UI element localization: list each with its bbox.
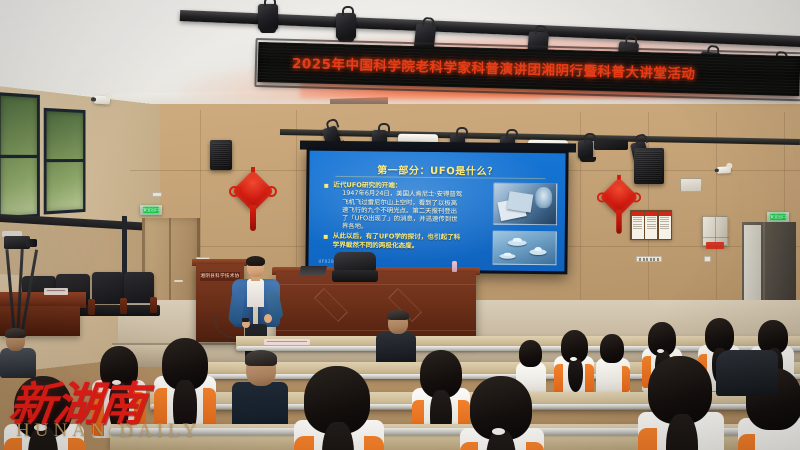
- chair-armrest: [120, 298, 127, 314]
- window-pane: [44, 108, 86, 215]
- slide-bullet: 近代UFO研究的开端： 1947年6月24日，美国人肯尼士·安得普驾飞机飞过雷尼…: [323, 181, 464, 232]
- soffit-post: [122, 216, 127, 276]
- witness-face: [535, 187, 552, 208]
- window-pane: [0, 92, 40, 220]
- left-windows: [4, 86, 84, 228]
- slide-bullet-text: 1947年6月24日，美国人肯尼士·安得普驾飞机飞过雷尼尔山上空时，看到了以极高…: [333, 189, 463, 231]
- presenter-hand-right: [264, 314, 272, 323]
- stage-light: [258, 4, 278, 30]
- wall-poster: [645, 212, 657, 239]
- slide-body: 近代UFO研究的开端： 1947年6月24日，美国人肯尼士·安得普驾飞机飞过雷尼…: [323, 181, 464, 253]
- hair-tie: [112, 380, 121, 385]
- exit-sign-label: 安全出口: [770, 214, 786, 220]
- paper-on-table: [44, 288, 68, 295]
- chinese-knot-decoration: [605, 183, 633, 211]
- slide-bullet: 从此以后，有了UFO学的探讨，也引起了科学界截然不同的两极化态度。: [323, 232, 463, 250]
- slide-bullet-head: 从此以后，有了UFO学的探讨，也引起了科学界截然不同的两极化态度。: [333, 232, 463, 250]
- exit-sign-label: 安全出口: [143, 207, 159, 213]
- table-panel-diamond: [314, 288, 348, 322]
- fire-safety-label: [706, 242, 724, 249]
- water-bottle[interactable]: [452, 261, 457, 272]
- glasses-icon: [248, 265, 263, 268]
- chair-armrest: [88, 299, 95, 315]
- cctv-camera-icon: [717, 166, 731, 174]
- lecture-hall-photo: 2025年中国科学院老科学家科普演讲团湘阴行暨科普大讲堂活动 安全出口 安全出口…: [0, 0, 800, 450]
- hair-tie: [657, 349, 664, 353]
- hair-tie: [570, 357, 577, 361]
- slide-image-three-flying-saucers: [492, 231, 556, 266]
- chinese-knot-decoration: [238, 176, 268, 206]
- office-chair[interactable]: [332, 252, 378, 288]
- wall-mounted-panel: [594, 140, 628, 150]
- cctv-camera-icon: [94, 95, 111, 104]
- wall-ac-unit: [680, 178, 702, 192]
- presenter-shirt: [247, 279, 264, 307]
- wall-speaker: [634, 148, 664, 184]
- wall-poster: [659, 212, 671, 239]
- wall-poster: [632, 212, 644, 239]
- slide-image-witness-holding-photos: [493, 183, 557, 226]
- wall-socket-strip[interactable]: [636, 256, 662, 262]
- saucer-shape: [508, 240, 527, 246]
- wall-poster-set: [630, 210, 672, 240]
- door-handle[interactable]: [174, 280, 183, 282]
- hair-tie: [492, 428, 505, 435]
- wall-switch[interactable]: [152, 192, 162, 197]
- presentation-clicker[interactable]: [242, 318, 249, 322]
- laptop-on-table[interactable]: [299, 266, 327, 276]
- wall-switch[interactable]: [704, 256, 711, 262]
- wall-speaker: [210, 140, 232, 170]
- exit-sign-left: 安全出口: [140, 205, 162, 215]
- hair-tie: [34, 424, 47, 431]
- camera-lens-icon: [26, 239, 37, 247]
- saucer-shape: [530, 249, 547, 255]
- chair-armrest: [150, 297, 157, 313]
- stage-light: [578, 140, 593, 159]
- saucer-shape: [500, 254, 516, 259]
- stage-light: [336, 13, 356, 39]
- paper-on-desk: [264, 339, 310, 345]
- exit-sign-right: 安全出口: [767, 212, 789, 222]
